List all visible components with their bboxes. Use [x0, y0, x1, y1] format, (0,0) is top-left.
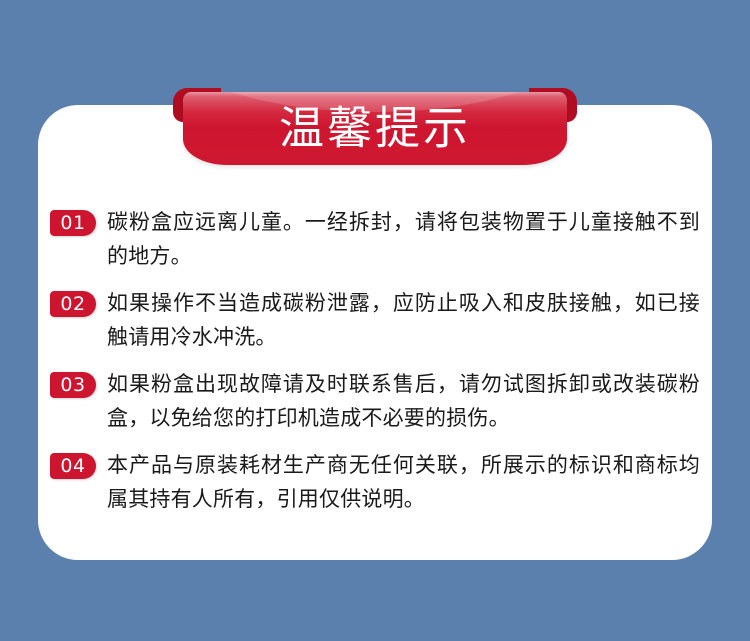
item-number-badge: 02	[50, 291, 96, 317]
item-text: 如果粉盒出现故障请及时联系售后，请勿试图拆卸或改装碳粉盒，以免给您的打印机造成不…	[107, 367, 700, 435]
notice-list: 01 碳粉盒应远离儿童。一经拆封，请将包装物置于儿童接触不到的地方。 02 如果…	[50, 205, 700, 529]
list-item: 04 本产品与原装耗材生产商无任何关联，所展示的标识和商标均属其持有人所有，引用…	[50, 448, 700, 516]
list-item: 01 碳粉盒应远离儿童。一经拆封，请将包装物置于儿童接触不到的地方。	[50, 205, 700, 273]
item-text: 本产品与原装耗材生产商无任何关联，所展示的标识和商标均属其持有人所有，引用仅供说…	[107, 448, 700, 516]
item-number-badge: 03	[50, 372, 96, 398]
item-number-badge: 04	[50, 453, 96, 479]
item-text: 碳粉盒应远离儿童。一经拆封，请将包装物置于儿童接触不到的地方。	[107, 205, 700, 273]
item-number-badge: 01	[50, 210, 96, 236]
list-item: 03 如果粉盒出现故障请及时联系售后，请勿试图拆卸或改装碳粉盒，以免给您的打印机…	[50, 367, 700, 435]
list-item: 02 如果操作不当造成碳粉泄露，应防止吸入和皮肤接触，如已接触请用冷水冲洗。	[50, 286, 700, 354]
item-text: 如果操作不当造成碳粉泄露，应防止吸入和皮肤接触，如已接触请用冷水冲洗。	[107, 286, 700, 354]
